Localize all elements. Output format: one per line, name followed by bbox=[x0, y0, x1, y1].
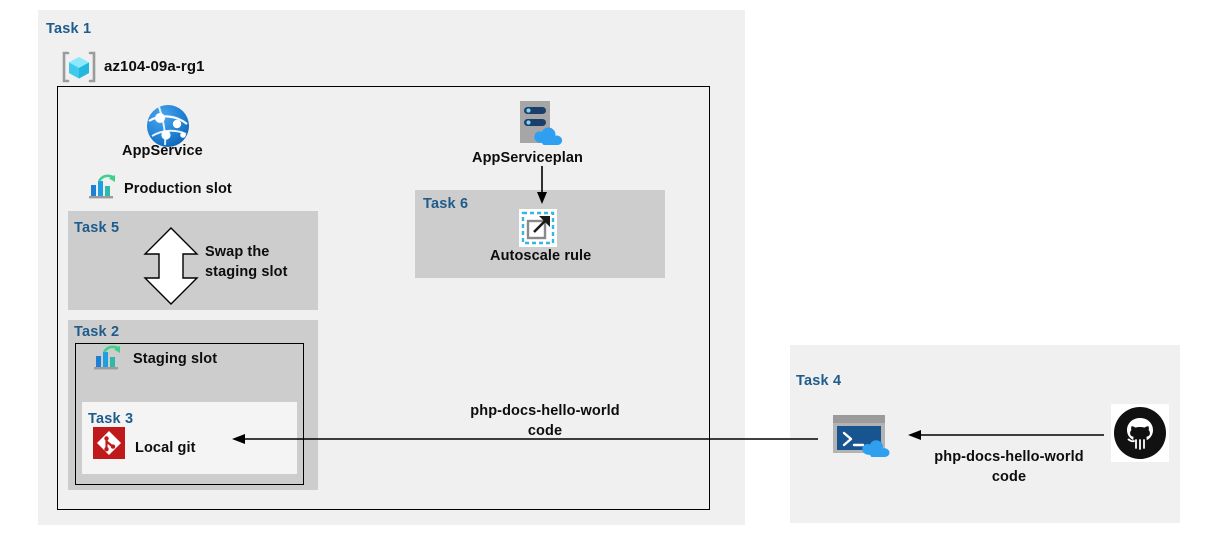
deployment-slot-icon-production bbox=[88, 174, 118, 202]
task6-label: Task 6 bbox=[423, 196, 468, 212]
github-to-cloudshell-label: php-docs-hello-world code bbox=[919, 448, 1099, 487]
autoscale-rule-label: Autoscale rule bbox=[490, 248, 591, 264]
task2-label: Task 2 bbox=[74, 324, 119, 340]
git-icon bbox=[93, 427, 125, 459]
task1-label: Task 1 bbox=[46, 21, 91, 37]
app-service-label: AppService bbox=[122, 143, 203, 159]
resource-group-icon bbox=[61, 49, 97, 85]
task3-label: Task 3 bbox=[88, 411, 133, 427]
staging-slot-label: Staging slot bbox=[133, 351, 217, 367]
double-arrow-icon bbox=[141, 227, 201, 305]
task4-label: Task 4 bbox=[796, 373, 841, 389]
app-service-plan-label: AppServiceplan bbox=[472, 150, 583, 166]
resource-group-label: az104-09a-rg1 bbox=[104, 58, 205, 75]
local-git-label: Local git bbox=[135, 440, 196, 456]
swap-slot-label: Swap the staging slot bbox=[205, 243, 315, 282]
deployment-slot-icon-staging bbox=[93, 345, 123, 373]
app-service-icon bbox=[146, 104, 190, 148]
cloudshell-to-localgit-label: php-docs-hello-world code bbox=[455, 402, 635, 441]
autoscale-icon bbox=[519, 209, 557, 247]
cloud-shell-icon bbox=[832, 413, 896, 461]
app-service-plan-icon bbox=[512, 100, 570, 148]
production-slot-label: Production slot bbox=[124, 181, 232, 197]
github-icon bbox=[1111, 404, 1169, 462]
task5-label: Task 5 bbox=[74, 220, 119, 236]
